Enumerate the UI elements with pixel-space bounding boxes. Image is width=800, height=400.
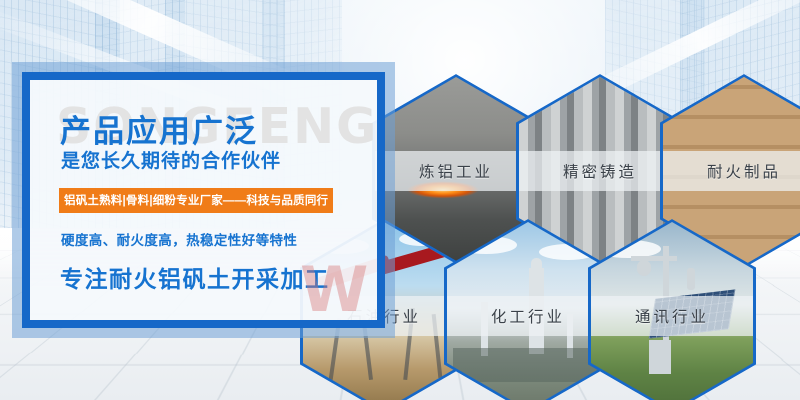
promo-banner: 炼铝工业 精密铸造 耐火制品 [0, 0, 800, 400]
feature-line: 硬度高、耐火度高，热稳定性好等特性 [61, 229, 297, 249]
hex-label-band: 炼铝工业 [375, 151, 537, 191]
hex-label-telecom: 通讯行业 [635, 305, 709, 327]
hex-label-band: 精密铸造 [519, 151, 681, 191]
hex-label-band: 通讯行业 [591, 296, 753, 336]
hex-label-casting: 精密铸造 [563, 160, 637, 182]
overlay-watermark: W [300, 250, 410, 330]
hex-label-chemical: 化工行业 [491, 305, 565, 327]
hex-label-refractory: 耐火制品 [707, 160, 781, 182]
hex-label-band: 化工行业 [447, 296, 609, 336]
focus-line: 专注耐火铝矾土开采加工 [60, 260, 330, 294]
subtitle: 是您长久期待的合作伙伴 [61, 146, 281, 173]
page-title: 产品应用广泛 [60, 106, 258, 151]
hex-label-band: 耐火制品 [663, 151, 800, 191]
tagline-badge: 铝矾土熟料|骨料|细粉专业厂家——科技与品质同行 [59, 188, 333, 213]
hex-label-smelting: 炼铝工业 [419, 160, 493, 182]
